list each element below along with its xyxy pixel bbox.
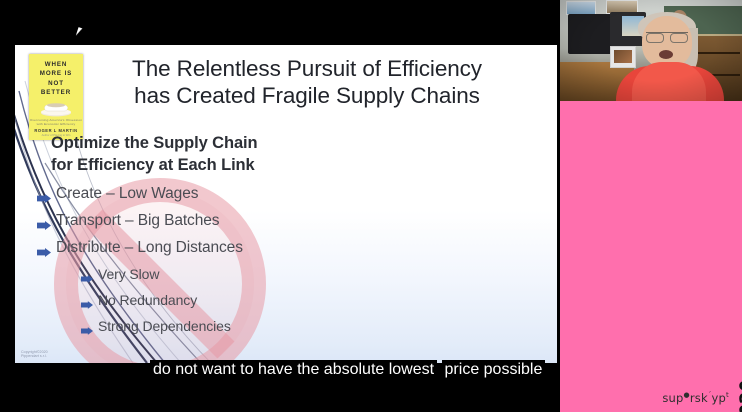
arrow-bullet-icon — [37, 217, 51, 226]
book-title: WHENMORE ISNOTBETTER — [29, 60, 83, 98]
slide-title-line-1: The Relentless Pursuit of Efficiency — [97, 55, 517, 82]
screen-share-region: WHENMORE ISNOTBETTER Overcoming America'… — [0, 0, 558, 412]
mouse-pointer-icon — [76, 27, 85, 38]
arrow-bullet-icon — [37, 244, 51, 253]
list-item-label: No Redundancy — [98, 291, 197, 309]
webcam-vignette — [560, 0, 742, 101]
event-brand-panel: AgileByExample 2020 sup●rsk´ypt — [560, 101, 742, 412]
slide-title: The Relentless Pursuit of Efficiency has… — [97, 55, 517, 109]
caption-line-1: do not want to have the absolute lowest — [150, 360, 437, 379]
subtitle-caption: do not want to have the absolute lowest … — [150, 358, 545, 381]
list-item: No Redundancy — [81, 291, 457, 309]
video-conference-screen: WHENMORE ISNOTBETTER Overcoming America'… — [0, 0, 742, 412]
list-item-label: Strong Dependencies — [98, 317, 231, 335]
list-item-label: Transport – Big Batches — [56, 212, 219, 230]
list-item: Transport – Big Batches — [37, 212, 457, 230]
list-item-label: Very Slow — [98, 265, 159, 283]
caption-line-2: price possible — [442, 360, 546, 379]
list-item: Strong Dependencies — [81, 317, 457, 335]
lead-line-1: Optimize the Supply Chain — [51, 134, 258, 152]
presenter-webcam-video[interactable] — [560, 0, 742, 101]
copyright-line-2: Pippendart s.r.l. — [21, 354, 47, 358]
book-cover-image: WHENMORE ISNOTBETTER Overcoming America'… — [29, 54, 83, 140]
book-subtitle: Overcoming America's Obsessionwith Econo… — [29, 118, 83, 126]
right-column: AgileByExample 2020 sup●rsk´ypt — [558, 0, 742, 412]
presentation-slide: WHENMORE ISNOTBETTER Overcoming America'… — [15, 45, 557, 363]
list-item-label: Create – Low Wages — [56, 185, 198, 203]
event-title: AgileByExample 2020 — [738, 380, 742, 412]
copyright-line-1: Copyright©2020 — [21, 350, 48, 354]
arrow-bullet-icon — [81, 296, 93, 304]
arrow-bullet-icon — [81, 270, 93, 278]
slide-body: Optimize the Supply Chain for Efficiency… — [37, 133, 457, 335]
superskrypt-logo: sup●rsk´ypt — [662, 392, 729, 404]
arrow-bullet-icon — [37, 190, 51, 199]
slide-lead-text: Optimize the Supply Chain for Efficiency… — [51, 133, 457, 176]
list-item: Create – Low Wages — [37, 185, 457, 203]
teacup-and-saucer-icon — [40, 100, 72, 117]
arrow-bullet-icon — [81, 322, 93, 330]
lead-line-2: for Efficiency at Each Link — [51, 156, 255, 174]
list-item: Very Slow — [81, 265, 457, 283]
list-item-label: Distribute – Long Distances — [56, 239, 243, 257]
list-item: Distribute – Long Distances — [37, 239, 457, 257]
slide-title-line-2: has Created Fragile Supply Chains — [97, 82, 517, 109]
slide-copyright-notice: Copyright©2020 Pippendart s.r.l. — [21, 350, 48, 359]
